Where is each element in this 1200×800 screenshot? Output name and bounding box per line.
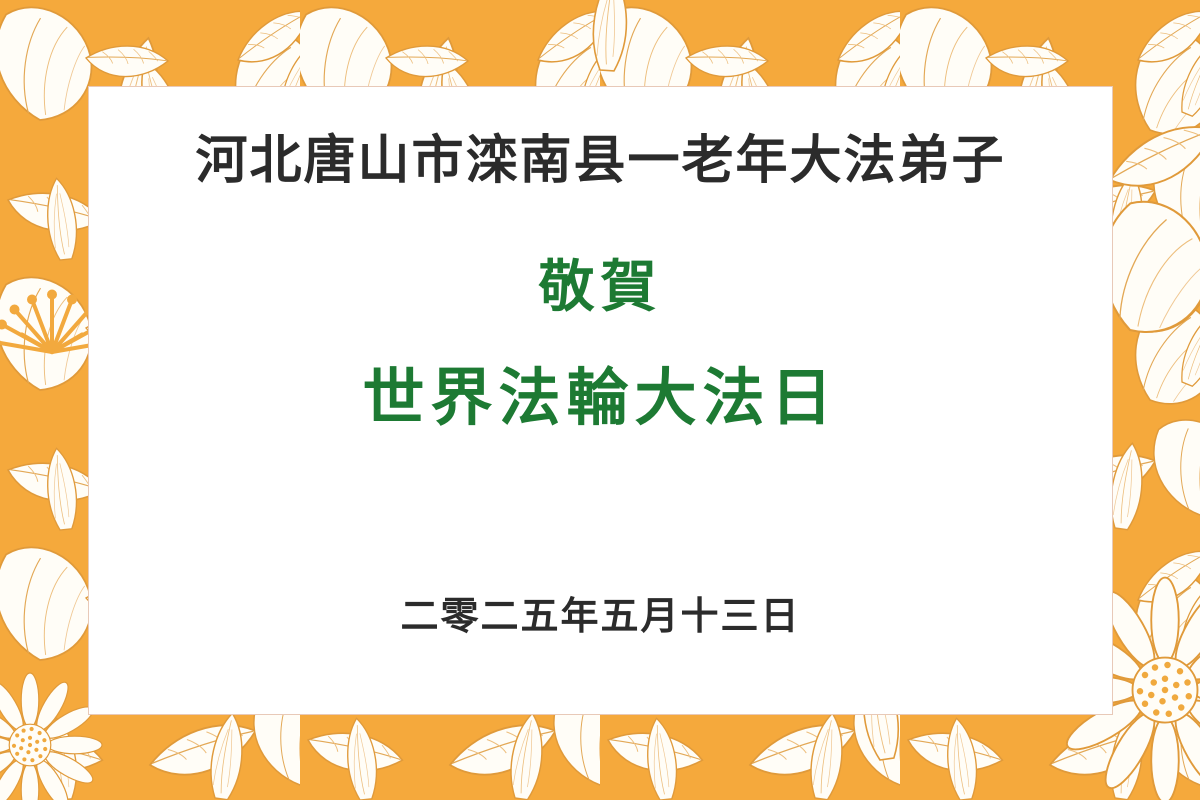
greeting-card-poster: 河北唐山市滦南县一老年大法弟子 敬賀 世界法輪大法日 二零二五年五月十三日 [0,0,1200,800]
greeting-card-panel: 河北唐山市滦南县一老年大法弟子 敬賀 世界法輪大法日 二零二五年五月十三日 [88,86,1113,715]
sender-line: 河北唐山市滦南县一老年大法弟子 [195,135,1005,187]
occasion-line: 世界法輪大法日 [362,367,838,429]
date-line: 二零二五年五月十三日 [400,597,800,635]
salutation-line: 敬賀 [539,259,663,315]
